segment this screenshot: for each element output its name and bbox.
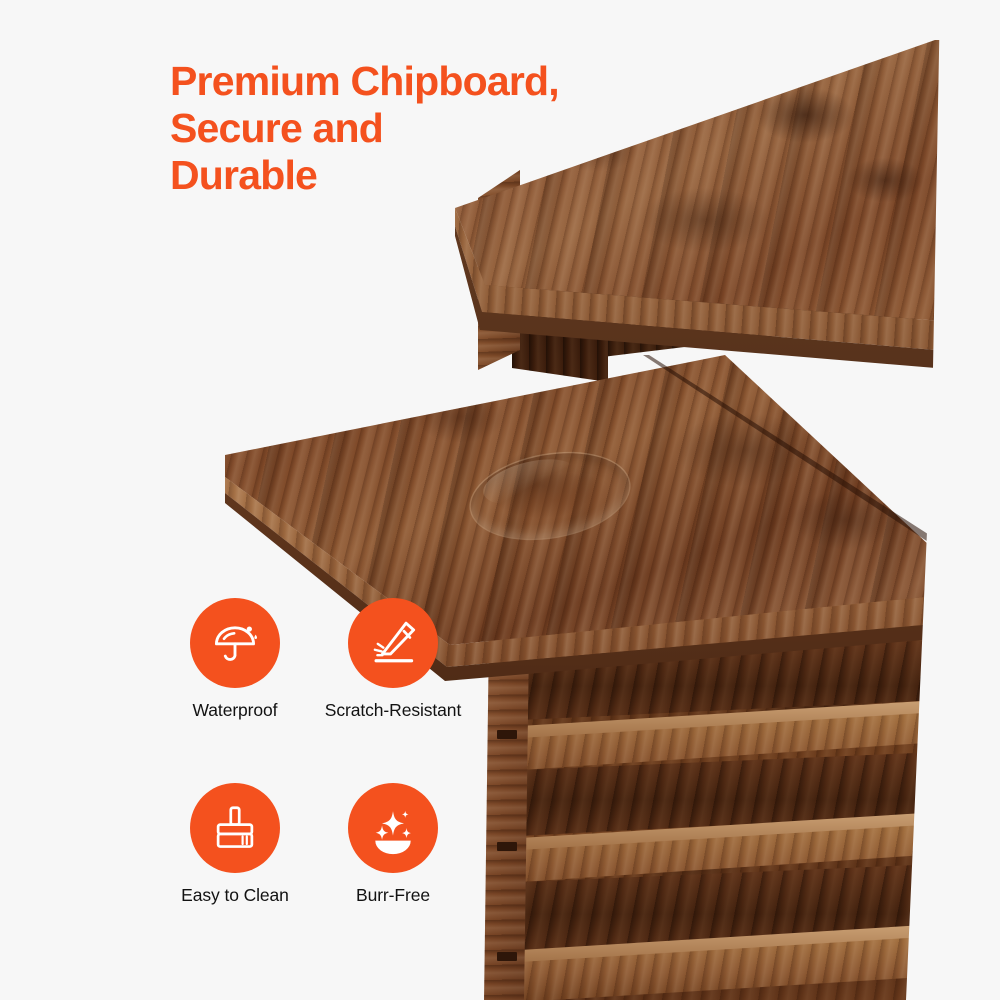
badge-circle-burr-free [348, 783, 438, 873]
badge-circle-scratch-resistant [348, 598, 438, 688]
feature-label: Burr-Free [356, 885, 430, 906]
shelf-notch [497, 842, 517, 851]
sparkle-shine-icon [366, 801, 420, 855]
product-feature-image: Premium Chipboard, Secure and Durable Wa… [0, 0, 1000, 1000]
feature-item-scratch-resistant[interactable]: Scratch-Resistant [318, 598, 468, 721]
badge-circle-easy-to-clean [190, 783, 280, 873]
shelf-notch [497, 952, 517, 961]
shelf-notch [497, 730, 517, 739]
feature-label: Waterproof [193, 700, 278, 721]
feature-label: Scratch-Resistant [325, 700, 461, 721]
page-title: Premium Chipboard, Secure and Durable [170, 58, 730, 199]
cleaning-brush-icon [208, 801, 262, 855]
feature-item-easy-to-clean[interactable]: Easy to Clean [160, 783, 310, 906]
feature-badge-grid: Waterproof Scratch-Resistant [160, 598, 480, 906]
feature-item-burr-free[interactable]: Burr-Free [318, 783, 468, 906]
umbrella-raindrops-icon [208, 616, 262, 670]
badge-circle-waterproof [190, 598, 280, 688]
feature-item-waterproof[interactable]: Waterproof [160, 598, 310, 721]
feature-label: Easy to Clean [181, 885, 289, 906]
knife-scratch-surface-icon [366, 616, 420, 670]
